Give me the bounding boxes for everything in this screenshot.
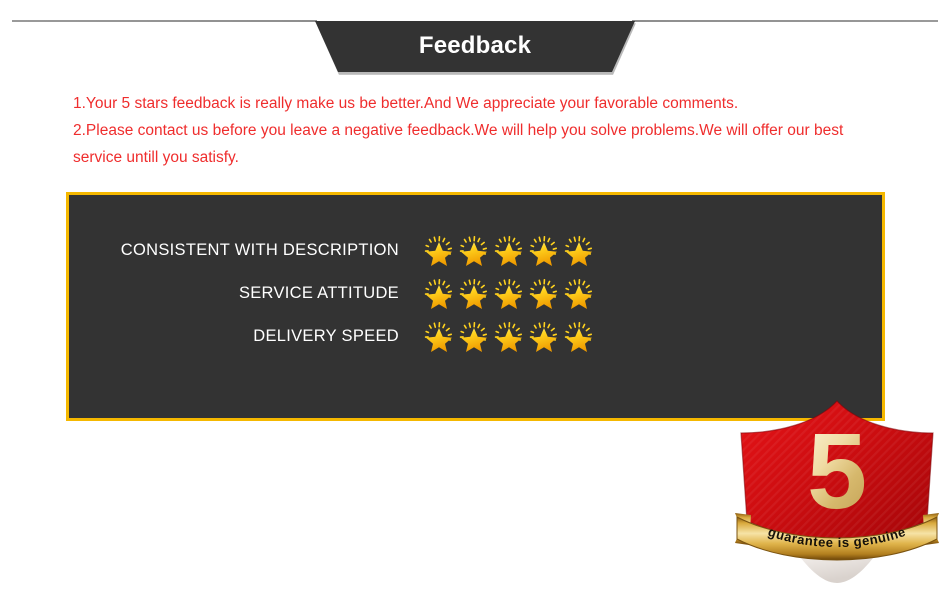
ratings-panel: CONSISTENT WITH DESCRIPTION SERVICE ATTI… <box>66 192 885 421</box>
rating-label-consistent-with-description: CONSISTENT WITH DESCRIPTION <box>69 241 399 260</box>
header-tab: Feedback <box>315 21 635 72</box>
star-icon <box>563 278 596 310</box>
ratings-list: CONSISTENT WITH DESCRIPTION SERVICE ATTI… <box>69 229 629 358</box>
star-icon <box>528 321 561 353</box>
star-icon <box>528 278 561 310</box>
rating-row: CONSISTENT WITH DESCRIPTION <box>69 229 629 272</box>
star-icon <box>563 235 596 267</box>
star-icon <box>493 321 526 353</box>
star-icon <box>493 278 526 310</box>
rating-row: DELIVERY SPEED <box>69 315 629 358</box>
header-rule-left <box>12 20 317 22</box>
feedback-page: Feedback 1.Your 5 stars feedback is real… <box>0 0 950 459</box>
rating-row: SERVICE ATTITUDE <box>69 272 629 315</box>
rating-label-service-attitude: SERVICE ATTITUDE <box>69 284 399 303</box>
header-band: Feedback <box>0 0 950 80</box>
star-rating-consistent-with-description <box>423 235 596 267</box>
star-icon <box>458 278 491 310</box>
star-rating-delivery-speed <box>423 321 596 353</box>
star-icon <box>528 235 561 267</box>
star-icon <box>423 321 456 353</box>
star-icon <box>423 235 456 267</box>
star-icon <box>493 235 526 267</box>
rating-label-delivery-speed: DELIVERY SPEED <box>69 327 399 346</box>
star-icon <box>458 235 491 267</box>
star-icon <box>563 321 596 353</box>
guarantee-badge: 5 guarantee is genuine <box>731 393 943 589</box>
badge-number: 5 <box>807 410 867 531</box>
star-icon <box>423 278 456 310</box>
feedback-notes: 1.Your 5 stars feedback is really make u… <box>73 90 893 171</box>
star-rating-service-attitude <box>423 278 596 310</box>
star-icon <box>458 321 491 353</box>
note-line-2: 2.Please contact us before you leave a n… <box>73 117 893 171</box>
header-rule-right <box>632 20 938 22</box>
note-line-1: 1.Your 5 stars feedback is really make u… <box>73 90 893 117</box>
page-title: Feedback <box>419 34 531 60</box>
